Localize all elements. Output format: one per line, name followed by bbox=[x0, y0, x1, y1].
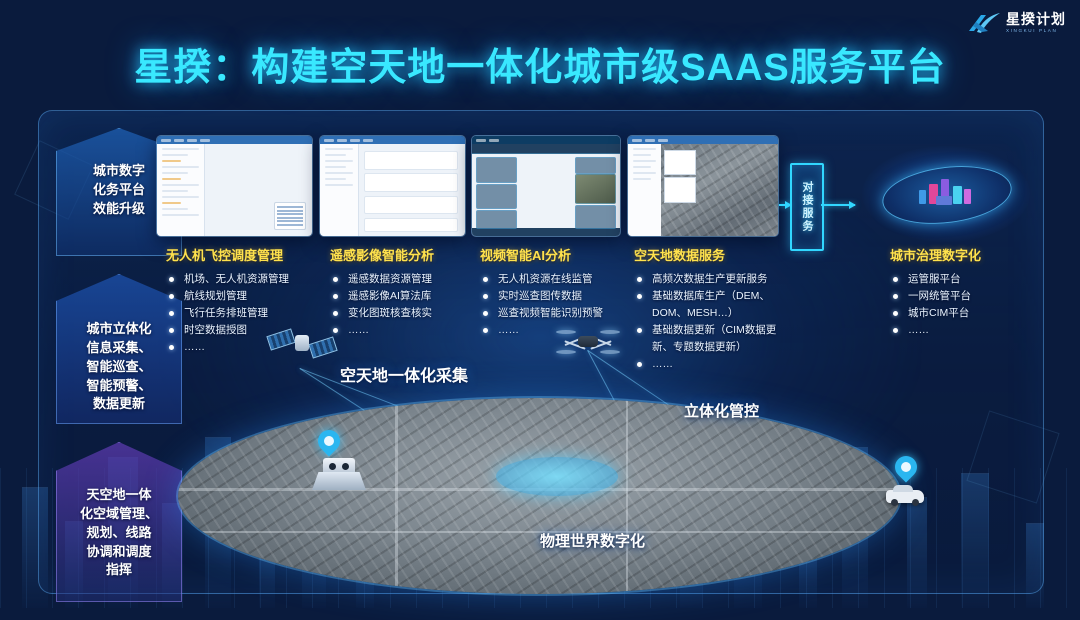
logo-title: 星揆计划 bbox=[1006, 12, 1066, 26]
station-base bbox=[312, 472, 366, 490]
panel-title: 遥感影像智能分析 bbox=[330, 245, 480, 264]
window-titlebar bbox=[472, 136, 620, 144]
console-sidebar bbox=[157, 144, 205, 236]
window-titlebar bbox=[628, 136, 778, 144]
twin-block bbox=[919, 190, 926, 204]
list-item: 基础数据库生产（DEM、DOM、MESH…） bbox=[634, 288, 786, 322]
dashboard-widget bbox=[575, 205, 615, 229]
logo-subtitle: XINGKUI PLAN bbox=[1006, 29, 1066, 34]
panel-title: 空天地数据服务 bbox=[634, 245, 786, 264]
station-cabin bbox=[323, 458, 355, 474]
list-item: 实时巡查图传数据 bbox=[480, 288, 632, 305]
dashboard-widget bbox=[476, 210, 516, 229]
city-ground-ellipse bbox=[178, 398, 900, 594]
list-item: 遥感影像AI算法库 bbox=[330, 288, 480, 305]
map-pin-icon[interactable] bbox=[318, 430, 340, 460]
window-body bbox=[472, 144, 620, 236]
dashboard-widget bbox=[476, 157, 516, 183]
panel-title: 城市治理数字化 bbox=[890, 245, 1040, 264]
list-item: 城市CIM平台 bbox=[890, 305, 1040, 322]
console-sidebar bbox=[320, 144, 359, 236]
page-title: 星揆：构建空天地一体化城市级SAAS服务平台 bbox=[0, 36, 1080, 91]
window-body bbox=[320, 144, 465, 236]
monitoring-station-icon bbox=[312, 472, 366, 490]
panel-list: 遥感数据资源管理 遥感影像AI算法库 变化图斑核查核实 …… bbox=[330, 271, 480, 339]
map-pin-icon[interactable] bbox=[895, 456, 917, 486]
list-item bbox=[364, 218, 458, 233]
connector-label: 对接服务 bbox=[799, 181, 815, 233]
list-item: 高频次数据生产更新服务 bbox=[634, 271, 786, 288]
road bbox=[178, 531, 900, 533]
road bbox=[626, 398, 628, 594]
dashboard-footer bbox=[472, 228, 620, 236]
brand-swoosh-icon bbox=[967, 11, 1001, 35]
drone-icon bbox=[556, 318, 620, 362]
list-item bbox=[364, 196, 458, 215]
brand-logo: 星揆计划 XINGKUI PLAN bbox=[967, 8, 1066, 38]
list-item: …… bbox=[890, 322, 1040, 339]
drone-rotor bbox=[600, 330, 620, 334]
road bbox=[395, 398, 398, 594]
video-preview bbox=[575, 174, 615, 204]
thumbnail-card bbox=[664, 150, 696, 176]
panel-data-service: 空天地数据服务 高频次数据生产更新服务 基础数据库生产（DEM、DOM、MESH… bbox=[634, 245, 786, 373]
thumbnail-card bbox=[664, 177, 696, 203]
list-item: …… bbox=[634, 356, 786, 373]
camera-lens bbox=[329, 463, 336, 470]
label-air-ground-capture: 空天地一体化采集 bbox=[340, 362, 468, 386]
tab-label: 城市立体化 信息采集、 智能巡查、 智能预警、 数据更新 bbox=[66, 320, 172, 414]
satellite-icon bbox=[268, 318, 334, 368]
panel-title: 无人机飞控调度管理 bbox=[166, 245, 326, 264]
wheel bbox=[891, 499, 898, 506]
panel-list: 高频次数据生产更新服务 基础数据库生产（DEM、DOM、MESH…） 基础数据更… bbox=[634, 271, 786, 373]
drone-rotor bbox=[556, 330, 576, 334]
screenshot-data-service[interactable] bbox=[628, 136, 778, 236]
digital-twin-city-icon bbox=[862, 146, 1030, 242]
screenshot-remote-sensing[interactable] bbox=[320, 136, 465, 236]
list-item: 运管服平台 bbox=[890, 271, 1040, 288]
slide-stage: 星揆计划 XINGKUI PLAN 星揆：构建空天地一体化城市级SAAS服务平台… bbox=[0, 0, 1080, 608]
twin-block bbox=[953, 186, 962, 204]
satellite-body bbox=[295, 335, 309, 351]
survey-vehicle-icon bbox=[886, 490, 924, 503]
list-item bbox=[364, 151, 458, 170]
twin-block bbox=[964, 189, 971, 204]
sidebar-item-airspace-management[interactable]: 天空地一体 化空域管理、 规划、线路 协调和调度 指挥 bbox=[56, 442, 182, 602]
screenshot-video-ai-dashboard[interactable] bbox=[472, 136, 620, 236]
sidebar-item-3d-collection[interactable]: 城市立体化 信息采集、 智能巡查、 智能预警、 数据更新 bbox=[56, 274, 182, 424]
pin-shape bbox=[313, 425, 344, 456]
window-body bbox=[628, 144, 778, 236]
list-item: 航线规划管理 bbox=[166, 288, 326, 305]
drone-rotor bbox=[600, 350, 620, 354]
list-item: 遥感数据资源管理 bbox=[330, 271, 480, 288]
connector-arrow-right bbox=[821, 204, 855, 206]
list-item: 一网统管平台 bbox=[890, 288, 1040, 305]
list-item: 机场、无人机资源管理 bbox=[166, 271, 326, 288]
window-titlebar bbox=[320, 136, 465, 144]
map-legend bbox=[274, 202, 306, 231]
connector-badge: 对接服务 bbox=[790, 163, 824, 251]
solar-panel bbox=[266, 328, 295, 350]
camera-lens bbox=[342, 463, 349, 470]
list-item: 基础数据更新（CIM数据更新、专题数据更新） bbox=[634, 322, 786, 356]
label-3d-control: 立体化管控 bbox=[684, 400, 759, 421]
window-titlebar bbox=[157, 136, 312, 144]
water-body bbox=[496, 457, 619, 496]
console-sidebar bbox=[628, 144, 662, 236]
dashboard-widget bbox=[476, 184, 516, 210]
panel-remote-sensing: 遥感影像智能分析 遥感数据资源管理 遥感影像AI算法库 变化图斑核查核实 …… bbox=[330, 245, 480, 339]
list-item: …… bbox=[330, 322, 480, 339]
screenshot-uav-console[interactable] bbox=[157, 136, 312, 236]
drone-body bbox=[578, 336, 598, 347]
solar-panel bbox=[308, 336, 337, 358]
pin-shape bbox=[890, 451, 921, 482]
list-item: 无人机资源在线监管 bbox=[480, 271, 632, 288]
list-item bbox=[364, 173, 458, 192]
wheel bbox=[912, 499, 919, 506]
label-physical-world: 物理世界数字化 bbox=[540, 530, 645, 551]
list-item: 变化图斑核查核实 bbox=[330, 305, 480, 322]
window-body bbox=[157, 144, 312, 236]
panel-city-governance: 城市治理数字化 运管服平台 一网统管平台 城市CIM平台 …… bbox=[890, 245, 1040, 339]
panel-title: 视频智能AI分析 bbox=[480, 245, 632, 264]
drone-rotor bbox=[556, 350, 576, 354]
twin-block bbox=[936, 196, 952, 205]
panel-list: 运管服平台 一网统管平台 城市CIM平台 …… bbox=[890, 271, 1040, 339]
dashboard-widget bbox=[575, 157, 615, 174]
dashboard-header bbox=[472, 144, 620, 154]
tab-label: 天空地一体 化空域管理、 规划、线路 协调和调度 指挥 bbox=[66, 486, 172, 580]
